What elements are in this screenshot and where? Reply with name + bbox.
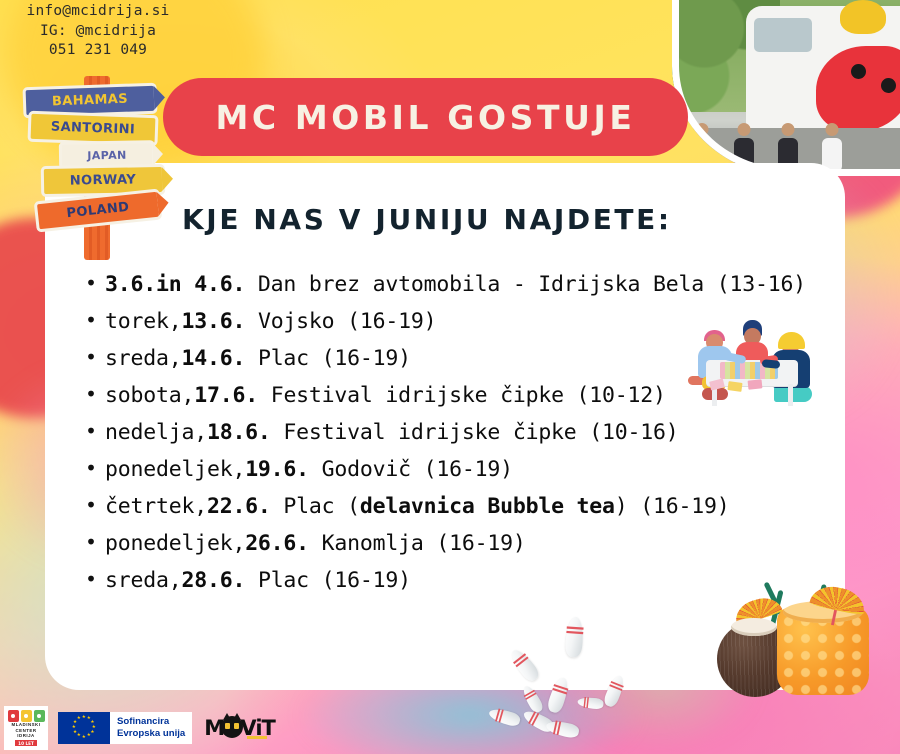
- list-item: nedelja,18.6. Festival idrijske čipke (1…: [67, 419, 857, 447]
- cocktails-illustration: [715, 585, 895, 705]
- list-item: 3.6.in 4.6. Dan brez avtomobila - Idrijs…: [67, 271, 857, 299]
- boardgame-illustration: [690, 310, 830, 410]
- signpost-label: JAPAN: [87, 149, 127, 161]
- photo-van-graphic-mouth: [816, 46, 900, 132]
- eu-star-icon: ★: [82, 736, 86, 741]
- event-weekday: ponedeljek,: [105, 531, 245, 556]
- event-weekday: četrtek,: [105, 494, 207, 519]
- event-date: 18.6.: [207, 420, 271, 445]
- signpost-sign-bahamas: BAHAMAS: [26, 86, 155, 115]
- event-date: 14.6.: [181, 346, 245, 371]
- photo-van-graphic-eye: [881, 78, 896, 93]
- boardgame-table-leg: [788, 384, 793, 406]
- bowling-pin: [546, 676, 571, 715]
- eu-star-icon: ★: [72, 726, 76, 731]
- mc-logo-years: 10 LET: [15, 740, 37, 746]
- movit-underline: [247, 736, 267, 739]
- eu-logo-line1: Sofinancira: [117, 716, 185, 728]
- event-date: 22.6.: [207, 494, 271, 519]
- contact-email: info@mcidrija.si: [18, 2, 178, 22]
- poster-canvas: info@mcidrija.si IG: @mcidrija 051 231 0…: [0, 0, 900, 754]
- eu-logo-text: Sofinancira Evropska unija: [110, 712, 192, 744]
- event-description: Kanomlja (16-19): [309, 531, 526, 556]
- contact-block: info@mcidrija.si IG: @mcidrija 051 231 0…: [18, 2, 178, 61]
- eu-star-icon: ★: [77, 734, 81, 739]
- event-date: 3.6.in 4.6.: [105, 272, 245, 297]
- photo-van-window: [754, 18, 812, 52]
- bowling-pin: [602, 673, 627, 708]
- event-weekday: ponedeljek,: [105, 457, 245, 482]
- list-item: ponedeljek,19.6. Godovič (16-19): [67, 456, 857, 484]
- photo-mc-mobil-team: [672, 0, 900, 176]
- boardgame-person-hat: [778, 332, 805, 349]
- event-weekday: torek,: [105, 309, 181, 334]
- eu-star-icon: ★: [73, 731, 77, 736]
- event-weekday: sreda,: [105, 346, 181, 371]
- photo-trees: [672, 0, 780, 112]
- footer-logos: MLADINSKI CENTER IDRIJA 10 LET ★★★★★★★★★…: [4, 704, 277, 752]
- event-date: 17.6.: [194, 383, 258, 408]
- event-description: Festival idrijske čipke (10-12): [258, 383, 666, 408]
- event-weekday: sobota,: [105, 383, 194, 408]
- eu-star-icon: ★: [77, 717, 81, 722]
- event-description: Plac (16-19): [245, 568, 411, 593]
- eu-flag-icon: ★★★★★★★★★★★★: [58, 712, 110, 744]
- title-banner: MC MOBIL GOSTUJE: [163, 78, 688, 156]
- event-description: Dan brez avtomobila - Idrijska Bela (13-…: [245, 272, 806, 297]
- event-date: 19.6.: [245, 457, 309, 482]
- event-weekday: nedelja,: [105, 420, 207, 445]
- event-weekday: sreda,: [105, 568, 181, 593]
- eu-star-icon: ★: [87, 734, 91, 739]
- event-description: Godovič (16-19): [309, 457, 513, 482]
- event-date: 26.6.: [245, 531, 309, 556]
- banner-title-text: MC MOBIL GOSTUJE: [215, 98, 635, 137]
- list-item: četrtek,22.6. Plac (delavnica Bubble tea…: [67, 493, 857, 521]
- logo-movit: MOViT: [202, 713, 277, 743]
- logo-european-union: ★★★★★★★★★★★★ Sofinancira Evropska unija: [58, 712, 192, 744]
- signpost-sign-santorini: SANTORINI: [31, 114, 156, 143]
- photo-van-graphic-eye: [851, 64, 866, 79]
- event-description: Festival idrijske čipke (10-16): [271, 420, 679, 445]
- eu-logo-line2: Evropska unija: [117, 728, 185, 740]
- pineapple-drink: [777, 607, 869, 695]
- bowling-pin: [577, 696, 604, 709]
- mc-logo-line3: IDRIJA: [17, 734, 34, 739]
- bowling-pins-illustration: [495, 625, 675, 753]
- event-description: Vojsko (16-19): [245, 309, 436, 334]
- event-date: 13.6.: [181, 309, 245, 334]
- signpost-label: BAHAMAS: [52, 93, 128, 109]
- photo-van-graphic-beak: [840, 0, 886, 34]
- bowling-pin: [508, 646, 542, 684]
- signpost-label: SANTORINI: [51, 121, 136, 137]
- event-time: ) (16-19): [615, 494, 730, 519]
- photo-van: [746, 6, 900, 142]
- boardgame-card: [727, 381, 742, 392]
- list-item: ponedeljek,26.6. Kanomlja (16-19): [67, 530, 857, 558]
- bowling-pin: [545, 719, 580, 739]
- event-description: Plac (: [271, 494, 360, 519]
- event-description: Plac (16-19): [245, 346, 411, 371]
- boardgame-card: [748, 379, 763, 389]
- boardgame-person-legs: [774, 386, 812, 402]
- eu-star-icon: ★: [82, 716, 86, 721]
- contact-instagram: IG: @mcidrija: [18, 22, 178, 42]
- event-highlight: delavnica Bubble tea: [360, 494, 615, 519]
- logo-mladinski-center-idrija: MLADINSKI CENTER IDRIJA 10 LET: [4, 706, 48, 750]
- mc-logo-line1: MLADINSKI: [12, 723, 41, 728]
- page-title: KJE NAS V JUNIJU NAJDETE:: [182, 203, 672, 236]
- event-date: 28.6.: [181, 568, 245, 593]
- contact-phone: 051 231 049: [18, 41, 178, 61]
- bowling-pin: [520, 684, 545, 715]
